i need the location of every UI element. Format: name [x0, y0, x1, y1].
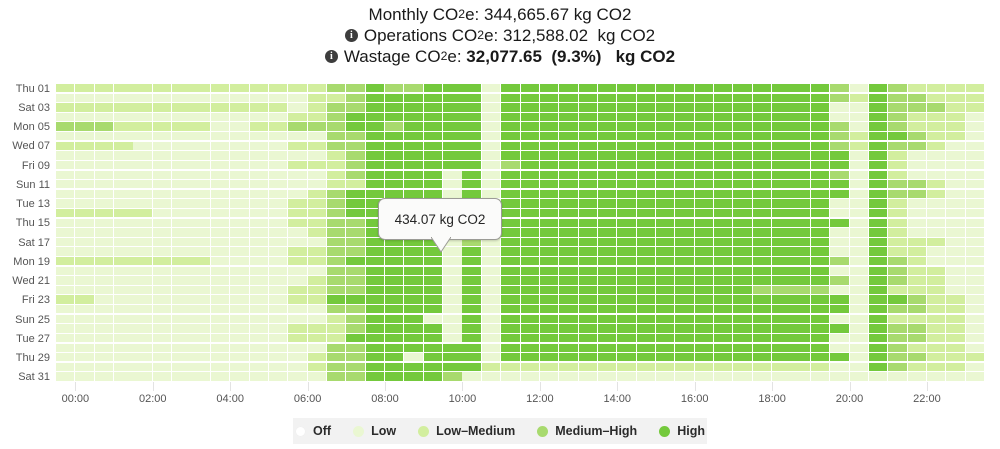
heatmap-cell[interactable] — [153, 257, 171, 265]
heatmap-cell[interactable] — [675, 94, 693, 102]
heatmap-cell[interactable] — [366, 295, 384, 303]
heatmap-cell[interactable] — [211, 151, 229, 159]
heatmap-cell[interactable] — [114, 180, 132, 188]
heatmap-cell[interactable] — [346, 219, 364, 227]
heatmap-cell[interactable] — [830, 344, 848, 352]
heatmap-cell[interactable] — [250, 132, 268, 140]
heatmap-cell[interactable] — [211, 180, 229, 188]
heatmap-cell[interactable] — [966, 276, 984, 284]
heatmap-cell[interactable] — [733, 324, 751, 332]
heatmap-cell[interactable] — [153, 84, 171, 92]
heatmap-cell[interactable] — [153, 276, 171, 284]
heatmap-cell[interactable] — [617, 161, 635, 169]
heatmap-cell[interactable] — [811, 161, 829, 169]
heatmap-cell[interactable] — [733, 103, 751, 111]
heatmap-cell[interactable] — [946, 267, 964, 275]
heatmap-cell[interactable] — [637, 305, 655, 313]
heatmap-cell[interactable] — [133, 363, 151, 371]
heatmap-cell[interactable] — [95, 257, 113, 265]
heatmap-cell[interactable] — [133, 324, 151, 332]
heatmap-cell[interactable] — [327, 94, 345, 102]
heatmap-cell[interactable] — [308, 151, 326, 159]
heatmap-cell[interactable] — [656, 305, 674, 313]
heatmap-cell[interactable] — [366, 190, 384, 198]
heatmap-cell[interactable] — [114, 363, 132, 371]
heatmap-row[interactable] — [56, 305, 985, 315]
heatmap-cell[interactable] — [850, 94, 868, 102]
heatmap-cell[interactable] — [850, 276, 868, 284]
heatmap-cell[interactable] — [617, 334, 635, 342]
heatmap-cell[interactable] — [753, 132, 771, 140]
heatmap-cell[interactable] — [714, 353, 732, 361]
heatmap-cell[interactable] — [791, 238, 809, 246]
heatmap-cell[interactable] — [172, 295, 190, 303]
heatmap-cell[interactable] — [579, 180, 597, 188]
heatmap-cell[interactable] — [656, 228, 674, 236]
heatmap-cell[interactable] — [579, 238, 597, 246]
heatmap-cell[interactable] — [56, 190, 74, 198]
heatmap-cell[interactable] — [695, 363, 713, 371]
heatmap-cell[interactable] — [540, 295, 558, 303]
heatmap-cell[interactable] — [172, 228, 190, 236]
heatmap-cell[interactable] — [521, 180, 539, 188]
heatmap-cell[interactable] — [366, 286, 384, 294]
heatmap-cell[interactable] — [656, 276, 674, 284]
info-icon[interactable]: i — [345, 29, 358, 42]
heatmap-cell[interactable] — [753, 199, 771, 207]
heatmap-cell[interactable] — [811, 295, 829, 303]
heatmap-cell[interactable] — [230, 199, 248, 207]
heatmap-cell[interactable] — [579, 103, 597, 111]
heatmap-cell[interactable] — [559, 190, 577, 198]
heatmap-cell[interactable] — [172, 113, 190, 121]
heatmap-cell[interactable] — [308, 334, 326, 342]
heatmap-cell[interactable] — [753, 295, 771, 303]
heatmap-cell[interactable] — [598, 276, 616, 284]
heatmap-cell[interactable] — [637, 257, 655, 265]
heatmap-cell[interactable] — [830, 315, 848, 323]
heatmap-cell[interactable] — [521, 344, 539, 352]
heatmap-row[interactable] — [56, 295, 985, 305]
heatmap-cell[interactable] — [656, 247, 674, 255]
heatmap-cell[interactable] — [966, 113, 984, 121]
heatmap-cell[interactable] — [869, 132, 887, 140]
heatmap-cell[interactable] — [366, 353, 384, 361]
heatmap-cell[interactable] — [153, 209, 171, 217]
heatmap-cell[interactable] — [656, 257, 674, 265]
heatmap-cell[interactable] — [733, 151, 751, 159]
heatmap-cell[interactable] — [598, 267, 616, 275]
heatmap-cell[interactable] — [230, 372, 248, 380]
heatmap-cell[interactable] — [327, 276, 345, 284]
heatmap-cell[interactable] — [753, 219, 771, 227]
heatmap-cell[interactable] — [695, 276, 713, 284]
heatmap-cell[interactable] — [675, 180, 693, 188]
heatmap-cell[interactable] — [521, 84, 539, 92]
heatmap-cell[interactable] — [617, 372, 635, 380]
heatmap-cell[interactable] — [366, 363, 384, 371]
heatmap-cell[interactable] — [598, 103, 616, 111]
heatmap-cell[interactable] — [153, 286, 171, 294]
heatmap-cell[interactable] — [56, 247, 74, 255]
heatmap-cell[interactable] — [927, 267, 945, 275]
heatmap-cell[interactable] — [56, 344, 74, 352]
heatmap-cell[interactable] — [462, 151, 480, 159]
heatmap-cell[interactable] — [733, 247, 751, 255]
heatmap-cell[interactable] — [133, 171, 151, 179]
heatmap-cell[interactable] — [191, 142, 209, 150]
heatmap-cell[interactable] — [443, 161, 461, 169]
heatmap-cell[interactable] — [250, 276, 268, 284]
heatmap-cell[interactable] — [869, 257, 887, 265]
heatmap-cell[interactable] — [56, 219, 74, 227]
heatmap-cell[interactable] — [637, 276, 655, 284]
heatmap-cell[interactable] — [791, 219, 809, 227]
heatmap-cell[interactable] — [908, 199, 926, 207]
heatmap-cell[interactable] — [153, 219, 171, 227]
heatmap-cell[interactable] — [211, 122, 229, 130]
heatmap-cell[interactable] — [114, 219, 132, 227]
heatmap-cell[interactable] — [191, 219, 209, 227]
heatmap-cell[interactable] — [443, 353, 461, 361]
heatmap-cell[interactable] — [462, 122, 480, 130]
heatmap-cell[interactable] — [114, 238, 132, 246]
heatmap-cell[interactable] — [424, 315, 442, 323]
heatmap-cell[interactable] — [269, 113, 287, 121]
heatmap-cell[interactable] — [75, 84, 93, 92]
heatmap-cell[interactable] — [404, 305, 422, 313]
heatmap-cell[interactable] — [269, 247, 287, 255]
heatmap-cell[interactable] — [791, 353, 809, 361]
heatmap-cell[interactable] — [521, 122, 539, 130]
heatmap-cell[interactable] — [675, 113, 693, 121]
heatmap-cell[interactable] — [811, 209, 829, 217]
heatmap-cell[interactable] — [714, 305, 732, 313]
heatmap-cell[interactable] — [559, 228, 577, 236]
heatmap-cell[interactable] — [211, 161, 229, 169]
heatmap-cell[interactable] — [501, 161, 519, 169]
legend-item[interactable]: Low — [353, 424, 396, 438]
heatmap-cell[interactable] — [714, 372, 732, 380]
heatmap-cell[interactable] — [250, 228, 268, 236]
heatmap-cell[interactable] — [753, 180, 771, 188]
heatmap-cell[interactable] — [946, 199, 964, 207]
heatmap-cell[interactable] — [230, 219, 248, 227]
heatmap-cell[interactable] — [250, 324, 268, 332]
heatmap-cell[interactable] — [888, 267, 906, 275]
heatmap-cell[interactable] — [191, 122, 209, 130]
heatmap-cell[interactable] — [288, 142, 306, 150]
heatmap-row[interactable] — [56, 363, 985, 373]
heatmap-cell[interactable] — [791, 132, 809, 140]
heatmap-cell[interactable] — [966, 180, 984, 188]
heatmap-cell[interactable] — [443, 344, 461, 352]
heatmap-cell[interactable] — [191, 295, 209, 303]
heatmap-cell[interactable] — [191, 103, 209, 111]
heatmap-cell[interactable] — [521, 295, 539, 303]
heatmap-cell[interactable] — [308, 295, 326, 303]
heatmap-cell[interactable] — [288, 180, 306, 188]
heatmap-cell[interactable] — [269, 122, 287, 130]
heatmap-cell[interactable] — [404, 363, 422, 371]
heatmap-cell[interactable] — [927, 344, 945, 352]
heatmap-cell[interactable] — [230, 267, 248, 275]
heatmap-cell[interactable] — [424, 267, 442, 275]
heatmap-cell[interactable] — [462, 286, 480, 294]
heatmap-cell[interactable] — [637, 315, 655, 323]
heatmap-cell[interactable] — [153, 142, 171, 150]
heatmap-cell[interactable] — [927, 180, 945, 188]
heatmap-cell[interactable] — [927, 84, 945, 92]
heatmap-cell[interactable] — [521, 334, 539, 342]
heatmap-cell[interactable] — [75, 305, 93, 313]
heatmap-cell[interactable] — [482, 267, 500, 275]
heatmap-cell[interactable] — [656, 334, 674, 342]
heatmap-cell[interactable] — [888, 353, 906, 361]
heatmap-cell[interactable] — [908, 94, 926, 102]
heatmap-cell[interactable] — [656, 344, 674, 352]
heatmap-cell[interactable] — [850, 247, 868, 255]
heatmap-cell[interactable] — [443, 94, 461, 102]
heatmap-cell[interactable] — [811, 142, 829, 150]
heatmap-cell[interactable] — [753, 151, 771, 159]
heatmap-cell[interactable] — [850, 305, 868, 313]
heatmap-cell[interactable] — [637, 247, 655, 255]
heatmap-cell[interactable] — [443, 276, 461, 284]
heatmap-row[interactable] — [56, 315, 985, 325]
heatmap-cell[interactable] — [366, 334, 384, 342]
heatmap-cell[interactable] — [133, 151, 151, 159]
heatmap-cell[interactable] — [308, 142, 326, 150]
heatmap-cell[interactable] — [114, 161, 132, 169]
heatmap-cell[interactable] — [288, 257, 306, 265]
heatmap-cell[interactable] — [250, 219, 268, 227]
heatmap-cell[interactable] — [95, 295, 113, 303]
heatmap-cell[interactable] — [462, 295, 480, 303]
heatmap-cell[interactable] — [501, 344, 519, 352]
heatmap-cell[interactable] — [850, 84, 868, 92]
heatmap-cell[interactable] — [327, 180, 345, 188]
heatmap-cell[interactable] — [888, 209, 906, 217]
heatmap-cell[interactable] — [869, 353, 887, 361]
heatmap-cell[interactable] — [656, 171, 674, 179]
heatmap-cell[interactable] — [598, 295, 616, 303]
heatmap-cell[interactable] — [269, 324, 287, 332]
heatmap-cell[interactable] — [927, 334, 945, 342]
heatmap-cell[interactable] — [579, 247, 597, 255]
heatmap-cell[interactable] — [172, 257, 190, 265]
heatmap-cell[interactable] — [579, 295, 597, 303]
heatmap-cell[interactable] — [675, 267, 693, 275]
heatmap-cell[interactable] — [191, 228, 209, 236]
heatmap-cell[interactable] — [540, 151, 558, 159]
heatmap-cell[interactable] — [172, 276, 190, 284]
heatmap-cell[interactable] — [114, 142, 132, 150]
heatmap-cell[interactable] — [250, 190, 268, 198]
heatmap-cell[interactable] — [637, 286, 655, 294]
heatmap-cell[interactable] — [598, 94, 616, 102]
heatmap-cell[interactable] — [75, 363, 93, 371]
heatmap-cell[interactable] — [714, 257, 732, 265]
heatmap-cell[interactable] — [830, 219, 848, 227]
heatmap-cell[interactable] — [966, 228, 984, 236]
heatmap-cell[interactable] — [579, 344, 597, 352]
heatmap-cell[interactable] — [482, 315, 500, 323]
heatmap-cell[interactable] — [830, 84, 848, 92]
heatmap-cell[interactable] — [230, 228, 248, 236]
heatmap-cell[interactable] — [56, 305, 74, 313]
heatmap-cell[interactable] — [404, 151, 422, 159]
heatmap-cell[interactable] — [714, 190, 732, 198]
heatmap-cell[interactable] — [946, 324, 964, 332]
heatmap-cell[interactable] — [308, 190, 326, 198]
heatmap-cell[interactable] — [733, 353, 751, 361]
heatmap-cell[interactable] — [811, 122, 829, 130]
heatmap-cell[interactable] — [191, 171, 209, 179]
heatmap-cell[interactable] — [443, 286, 461, 294]
heatmap-cell[interactable] — [811, 219, 829, 227]
heatmap-cell[interactable] — [501, 238, 519, 246]
heatmap-cell[interactable] — [791, 267, 809, 275]
heatmap-cell[interactable] — [211, 344, 229, 352]
heatmap-cell[interactable] — [153, 228, 171, 236]
heatmap-cell[interactable] — [830, 286, 848, 294]
heatmap-cell[interactable] — [385, 372, 403, 380]
heatmap-cell[interactable] — [269, 142, 287, 150]
heatmap-cell[interactable] — [385, 305, 403, 313]
heatmap-cell[interactable] — [211, 113, 229, 121]
heatmap-cell[interactable] — [250, 286, 268, 294]
heatmap-cell[interactable] — [850, 344, 868, 352]
heatmap-cell[interactable] — [869, 142, 887, 150]
heatmap-cell[interactable] — [733, 171, 751, 179]
heatmap-cell[interactable] — [714, 363, 732, 371]
heatmap-cell[interactable] — [559, 180, 577, 188]
heatmap-cell[interactable] — [850, 238, 868, 246]
heatmap-cell[interactable] — [424, 161, 442, 169]
heatmap-cell[interactable] — [56, 257, 74, 265]
heatmap-cell[interactable] — [656, 84, 674, 92]
heatmap-cell[interactable] — [656, 286, 674, 294]
heatmap-cell[interactable] — [191, 372, 209, 380]
heatmap-cell[interactable] — [946, 363, 964, 371]
heatmap-cell[interactable] — [753, 372, 771, 380]
heatmap-cell[interactable] — [153, 305, 171, 313]
heatmap-cell[interactable] — [675, 190, 693, 198]
heatmap-cell[interactable] — [888, 324, 906, 332]
heatmap-cell[interactable] — [850, 199, 868, 207]
heatmap-cell[interactable] — [695, 142, 713, 150]
heatmap-cell[interactable] — [714, 142, 732, 150]
heatmap-cell[interactable] — [695, 257, 713, 265]
heatmap-cell[interactable] — [540, 334, 558, 342]
heatmap-cell[interactable] — [521, 151, 539, 159]
heatmap-cell[interactable] — [559, 247, 577, 255]
heatmap-cell[interactable] — [327, 305, 345, 313]
heatmap-cell[interactable] — [617, 151, 635, 159]
heatmap-cell[interactable] — [811, 324, 829, 332]
heatmap-cell[interactable] — [153, 353, 171, 361]
heatmap-cell[interactable] — [153, 324, 171, 332]
heatmap-cell[interactable] — [850, 286, 868, 294]
heatmap-cell[interactable] — [482, 180, 500, 188]
heatmap-cell[interactable] — [172, 84, 190, 92]
heatmap-cell[interactable] — [772, 257, 790, 265]
heatmap-cell[interactable] — [385, 315, 403, 323]
heatmap-cell[interactable] — [75, 372, 93, 380]
heatmap-cell[interactable] — [250, 84, 268, 92]
heatmap-cell[interactable] — [366, 122, 384, 130]
heatmap-cell[interactable] — [327, 372, 345, 380]
heatmap-cell[interactable] — [656, 94, 674, 102]
heatmap-cell[interactable] — [308, 353, 326, 361]
heatmap-cell[interactable] — [637, 238, 655, 246]
heatmap-cell[interactable] — [230, 353, 248, 361]
heatmap-cell[interactable] — [95, 238, 113, 246]
heatmap-cell[interactable] — [637, 190, 655, 198]
heatmap-cell[interactable] — [288, 305, 306, 313]
heatmap-cell[interactable] — [346, 276, 364, 284]
heatmap-cell[interactable] — [598, 161, 616, 169]
heatmap-row[interactable] — [56, 276, 985, 286]
heatmap-cell[interactable] — [656, 122, 674, 130]
heatmap-cell[interactable] — [133, 142, 151, 150]
heatmap-cell[interactable] — [656, 363, 674, 371]
heatmap-cell[interactable] — [675, 103, 693, 111]
heatmap-cell[interactable] — [753, 257, 771, 265]
heatmap-cell[interactable] — [656, 190, 674, 198]
heatmap-cell[interactable] — [791, 363, 809, 371]
heatmap-cell[interactable] — [308, 171, 326, 179]
heatmap-cell[interactable] — [308, 315, 326, 323]
heatmap-cell[interactable] — [927, 142, 945, 150]
heatmap-cell[interactable] — [133, 353, 151, 361]
heatmap-cell[interactable] — [617, 315, 635, 323]
heatmap-cell[interactable] — [966, 142, 984, 150]
heatmap-cell[interactable] — [75, 324, 93, 332]
heatmap-cell[interactable] — [927, 94, 945, 102]
heatmap-cell[interactable] — [675, 142, 693, 150]
heatmap-cell[interactable] — [424, 103, 442, 111]
heatmap-cell[interactable] — [656, 372, 674, 380]
heatmap-row[interactable] — [56, 199, 985, 209]
heatmap-cell[interactable] — [559, 171, 577, 179]
heatmap-cell[interactable] — [172, 334, 190, 342]
heatmap-cell[interactable] — [733, 238, 751, 246]
heatmap-cell[interactable] — [308, 219, 326, 227]
heatmap-cell[interactable] — [250, 305, 268, 313]
heatmap-cell[interactable] — [56, 295, 74, 303]
heatmap-cell[interactable] — [811, 247, 829, 255]
heatmap-cell[interactable] — [521, 161, 539, 169]
heatmap-cell[interactable] — [753, 324, 771, 332]
heatmap-cell[interactable] — [385, 324, 403, 332]
heatmap-cell[interactable] — [830, 171, 848, 179]
heatmap-cell[interactable] — [269, 295, 287, 303]
heatmap-cell[interactable] — [675, 305, 693, 313]
heatmap-cell[interactable] — [114, 295, 132, 303]
heatmap-cell[interactable] — [211, 238, 229, 246]
heatmap-cell[interactable] — [443, 113, 461, 121]
heatmap-cell[interactable] — [443, 295, 461, 303]
heatmap-cell[interactable] — [714, 344, 732, 352]
heatmap-cell[interactable] — [675, 247, 693, 255]
heatmap-cell[interactable] — [501, 295, 519, 303]
heatmap-cell[interactable] — [946, 103, 964, 111]
heatmap-cell[interactable] — [346, 171, 364, 179]
heatmap-cell[interactable] — [772, 238, 790, 246]
heatmap-cell[interactable] — [75, 219, 93, 227]
